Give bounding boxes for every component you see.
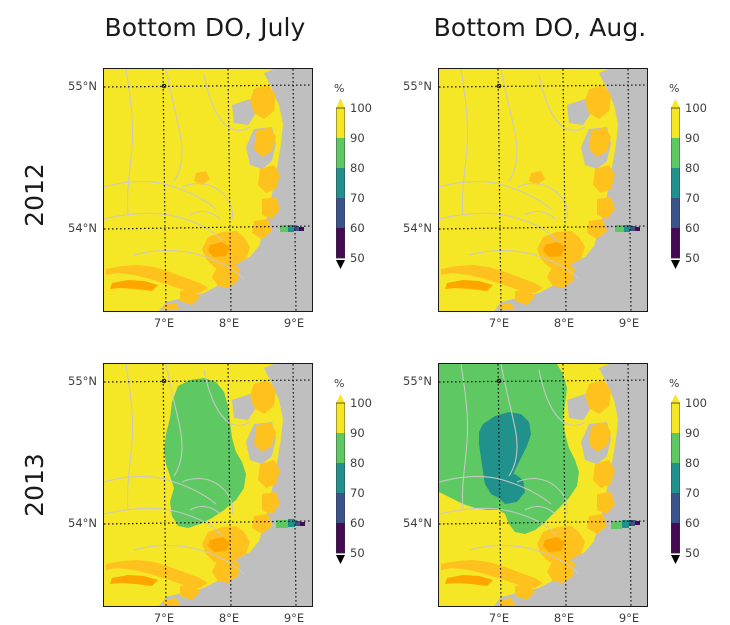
colorbar-tick-50: 50 bbox=[350, 546, 365, 560]
colorbar-tick-50: 50 bbox=[685, 546, 700, 560]
xtick-7e: 7°E bbox=[477, 611, 521, 625]
xtick-9e: 9°E bbox=[272, 611, 316, 625]
colorbar-tick-100: 100 bbox=[685, 396, 707, 410]
column-title-august: Bottom DO, Aug. bbox=[415, 13, 665, 42]
colorbar-unit-label: % bbox=[334, 377, 344, 390]
xtick-8e: 8°E bbox=[207, 611, 251, 625]
map-2012-august bbox=[438, 68, 648, 312]
ytick-55n: 55°N bbox=[53, 79, 97, 93]
ytick-54n: 54°N bbox=[388, 516, 432, 530]
colorbar-unit-label: % bbox=[334, 82, 344, 95]
colorbar-tick-60: 60 bbox=[685, 221, 700, 235]
colorbar-tick-60: 60 bbox=[350, 516, 365, 530]
colorbar-unit-label: % bbox=[669, 82, 679, 95]
colorbar-gradient bbox=[336, 394, 345, 564]
panel-2013-august: 55°N 54°N 7°E 8°E 9°E bbox=[438, 363, 648, 607]
panel-2013-july: 55°N 54°N 7°E 8°E 9°E bbox=[103, 363, 313, 607]
xtick-9e: 9°E bbox=[607, 611, 651, 625]
panel-2012-august: 55°N 54°N 7°E 8°E 9°E bbox=[438, 68, 648, 312]
colorbar-gradient bbox=[336, 99, 345, 269]
panel-2012-july: 55°N 54°N 7°E 8°E 9°E bbox=[103, 68, 313, 312]
colorbar-tick-90: 90 bbox=[350, 131, 365, 145]
row-label-2012: 2012 bbox=[20, 145, 50, 245]
ytick-54n: 54°N bbox=[388, 221, 432, 235]
colorbar-tick-100: 100 bbox=[685, 101, 707, 115]
xtick-7e: 7°E bbox=[477, 316, 521, 330]
colorbar-tick-70: 70 bbox=[350, 486, 365, 500]
colorbar-tick-80: 80 bbox=[350, 161, 365, 175]
colorbar-gradient bbox=[671, 99, 680, 269]
row-label-2013: 2013 bbox=[20, 435, 50, 535]
ytick-55n: 55°N bbox=[388, 374, 432, 388]
colorbar-tick-100: 100 bbox=[350, 101, 372, 115]
ytick-55n: 55°N bbox=[53, 374, 97, 388]
colorbar-unit-label: % bbox=[669, 377, 679, 390]
colorbar-tick-60: 60 bbox=[685, 516, 700, 530]
map-2013-august bbox=[438, 363, 648, 607]
ytick-55n: 55°N bbox=[388, 79, 432, 93]
xtick-8e: 8°E bbox=[207, 316, 251, 330]
ytick-54n: 54°N bbox=[53, 221, 97, 235]
ytick-54n: 54°N bbox=[53, 516, 97, 530]
xtick-8e: 8°E bbox=[542, 316, 586, 330]
colorbar-tick-80: 80 bbox=[685, 161, 700, 175]
colorbar-tick-80: 80 bbox=[685, 456, 700, 470]
xtick-7e: 7°E bbox=[142, 611, 186, 625]
map-2013-july bbox=[103, 363, 313, 607]
xtick-9e: 9°E bbox=[272, 316, 316, 330]
colorbar-tick-90: 90 bbox=[685, 426, 700, 440]
xtick-9e: 9°E bbox=[607, 316, 651, 330]
colorbar-tick-50: 50 bbox=[350, 251, 365, 265]
colorbar-gradient bbox=[671, 394, 680, 564]
xtick-8e: 8°E bbox=[542, 611, 586, 625]
colorbar-tick-80: 80 bbox=[350, 456, 365, 470]
colorbar-tick-90: 90 bbox=[685, 131, 700, 145]
colorbar-tick-90: 90 bbox=[350, 426, 365, 440]
colorbar-tick-50: 50 bbox=[685, 251, 700, 265]
column-title-july: Bottom DO, July bbox=[80, 13, 330, 42]
colorbar-tick-60: 60 bbox=[350, 221, 365, 235]
colorbar-tick-70: 70 bbox=[350, 191, 365, 205]
colorbar-tick-70: 70 bbox=[685, 486, 700, 500]
colorbar-tick-70: 70 bbox=[685, 191, 700, 205]
figure-panel-grid: Bottom DO, July Bottom DO, Aug. 2012 201… bbox=[0, 0, 730, 625]
colorbar-tick-100: 100 bbox=[350, 396, 372, 410]
map-2012-july bbox=[103, 68, 313, 312]
xtick-7e: 7°E bbox=[142, 316, 186, 330]
